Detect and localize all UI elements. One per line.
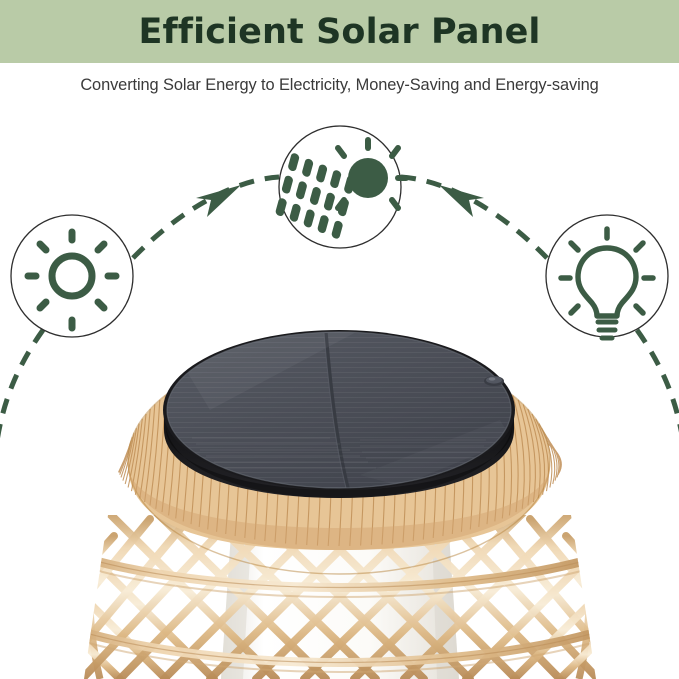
connector-bulb-tail [637, 330, 679, 448]
badge-light-bulb [546, 215, 668, 338]
connector-sun-tail [0, 330, 43, 448]
badge-solar-panel [275, 126, 406, 248]
connector-panel-to-bulb [401, 177, 547, 258]
badge-sun [11, 215, 133, 337]
connector-sun-to-panel [133, 177, 279, 258]
infographic-canvas: Efficient Solar Panel Converting Solar E… [0, 0, 679, 679]
flow-diagram [0, 0, 679, 679]
